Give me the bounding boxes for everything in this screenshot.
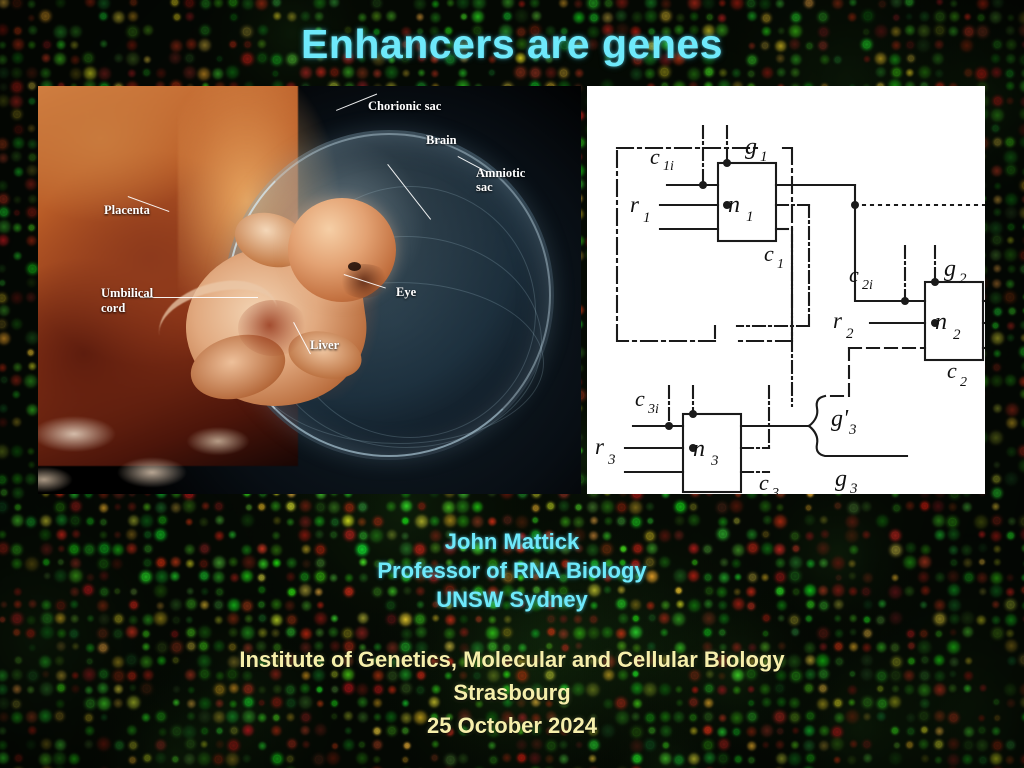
g3-squiggle-lower — [809, 426, 907, 456]
leader-line-umbilical-cord — [140, 297, 258, 298]
presenter-affiliation: UNSW Sydney — [0, 585, 1024, 614]
label-g2-base: g — [944, 256, 956, 282]
venue-institute: Institute of Genetics, Molecular and Cel… — [0, 645, 1024, 674]
label-n3-sub: 3 — [710, 453, 719, 469]
label-umbilical-cord-line2: cord — [101, 301, 125, 316]
label-umbilical-cord-line1: Umbilical — [101, 286, 153, 301]
circuit-labels: c 1i g 1 r 1 n 1 c 1 c 2i g 2 r 2 n 2 c … — [595, 134, 967, 494]
n2-bot-branch — [825, 348, 849, 396]
venue-city: Strasbourg — [0, 678, 1024, 707]
label-c2-base: c — [947, 358, 957, 383]
label-g3-base: g — [835, 466, 847, 492]
presentation-slide: Enhancers are genes Chorionic sac Brain … — [0, 0, 1024, 768]
label-r1-sub: 1 — [643, 210, 651, 226]
label-r2-base: r — [833, 308, 843, 333]
label-r1-base: r — [630, 192, 640, 217]
label-amniotic-sac: Amniotic sac — [476, 166, 526, 194]
label-g3-sub: 3 — [849, 481, 858, 494]
label-placenta: Placenta — [104, 203, 150, 218]
label-g2-sub: 2 — [959, 271, 967, 287]
fetus-eye — [348, 262, 361, 271]
label-r3-sub: 3 — [607, 452, 616, 468]
circuit-diagram-svg: c 1i g 1 r 1 n 1 c 1 c 2i g 2 r 2 n 2 c … — [587, 86, 985, 494]
label-g3prime-sub: 3 — [848, 422, 857, 438]
label-c2i-sub: 2i — [862, 278, 873, 293]
label-g1-sub: 1 — [760, 149, 768, 165]
label-g3prime-base: g' — [831, 406, 849, 432]
presenter-name: John Mattick — [0, 527, 1024, 556]
label-chorionic-sac: Chorionic sac — [368, 99, 441, 114]
label-n2-base: n — [935, 309, 947, 335]
label-brain: Brain — [426, 133, 457, 148]
junction-dots — [665, 159, 939, 452]
circuit-diagram-panel: c 1i g 1 r 1 n 1 c 1 c 2i g 2 r 2 n 2 c … — [587, 86, 985, 494]
label-n2-sub: 2 — [953, 327, 961, 343]
label-n1-sub: 1 — [746, 209, 754, 225]
label-n1-base: n — [728, 192, 740, 218]
embryo-photograph: Chorionic sac Brain Amniotic sac Placent… — [38, 86, 581, 494]
g3-prime-squiggle-upper — [809, 396, 825, 426]
label-c2-sub: 2 — [960, 375, 967, 390]
page-title: Enhancers are genes — [0, 21, 1024, 68]
label-g1-base: g — [745, 134, 757, 160]
label-c3-base: c — [759, 470, 769, 494]
label-c3-sub: 3 — [771, 486, 779, 494]
presenter-title: Professor of RNA Biology — [0, 556, 1024, 585]
label-liver: Liver — [310, 338, 339, 353]
label-r3-base: r — [595, 434, 605, 459]
label-c1i-base: c — [650, 144, 660, 169]
label-c2i-base: c — [849, 262, 859, 287]
venue-date: 25 October 2024 — [0, 711, 1024, 740]
label-n3-base: n — [693, 436, 705, 462]
label-eye: Eye — [396, 285, 416, 300]
label-r2-sub: 2 — [846, 326, 854, 342]
label-c1-sub: 1 — [777, 257, 784, 272]
label-c1-base: c — [764, 241, 774, 266]
label-c3i-sub: 3i — [647, 402, 659, 417]
label-c1i-sub: 1i — [663, 159, 674, 174]
label-c3i-base: c — [635, 386, 645, 411]
